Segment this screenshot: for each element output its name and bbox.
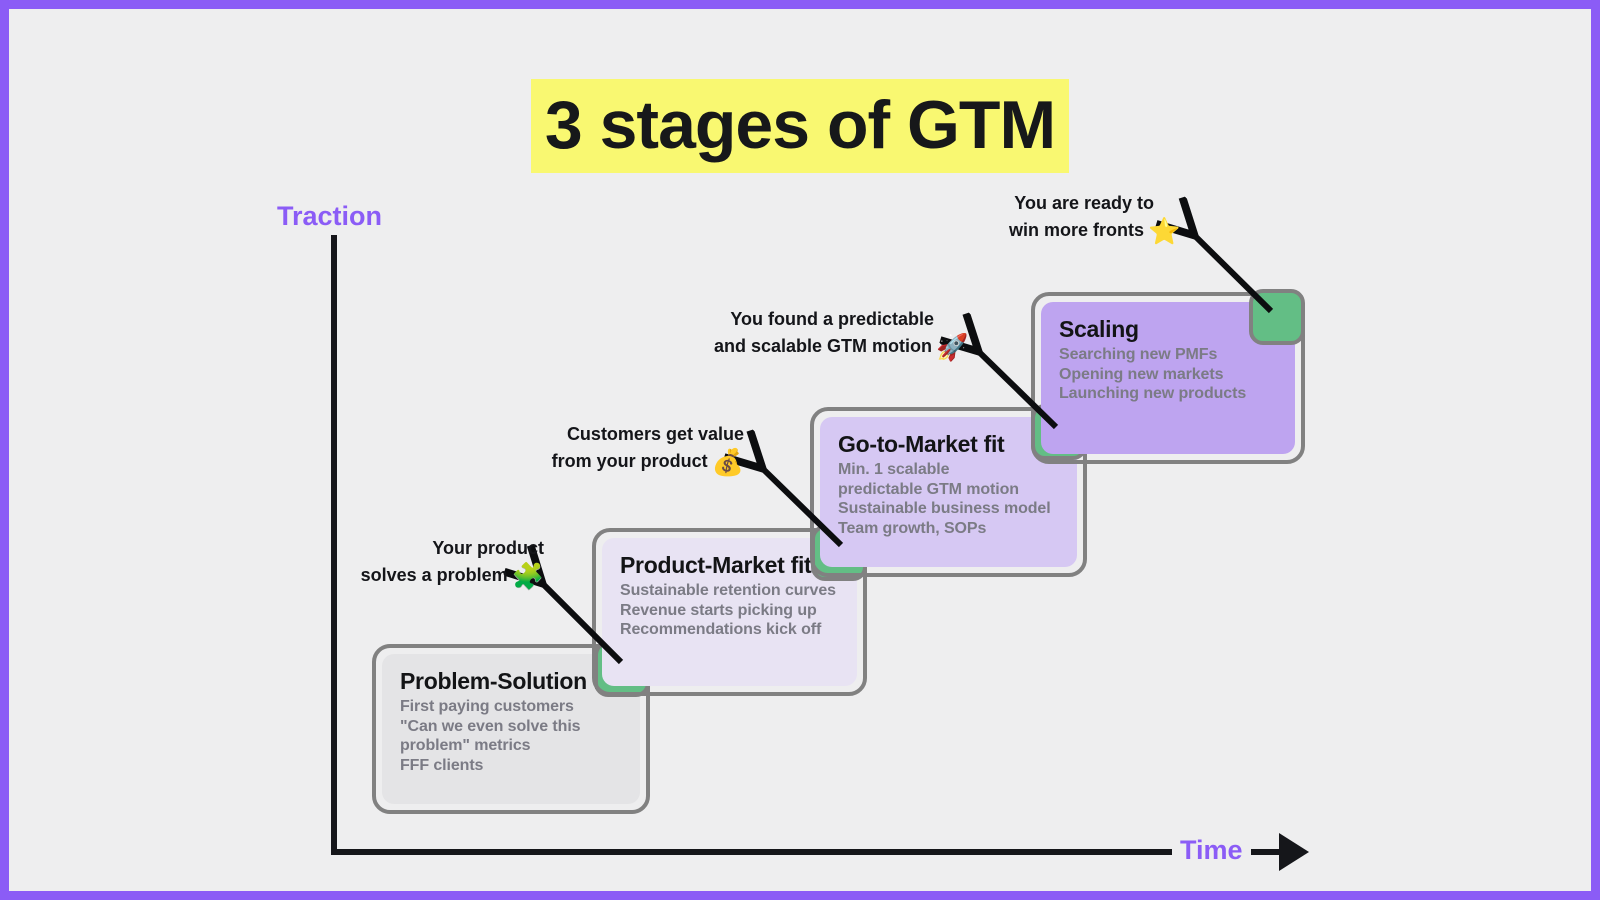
annotation-solves-a-problem: Your product solves a problem🧩: [359, 537, 544, 593]
annotation-line-1: You found a predictable: [730, 309, 934, 329]
annotation-line-2: solves a problem: [361, 565, 508, 585]
diagram-canvas: 3 stages of GTM Traction Time Problem-So…: [9, 9, 1591, 891]
annotation-predictable-gtm-motion: You found a predictable and scalable GTM…: [714, 308, 934, 364]
money-bag-emoji: 💰: [712, 447, 744, 477]
annotation-line-2: win more fronts: [1009, 220, 1144, 240]
puzzle-piece-emoji: 🧩: [512, 561, 544, 591]
arrow-to-product-market: [760, 466, 841, 545]
star-emoji: ⭐: [1148, 216, 1180, 246]
rocket-emoji: 🚀: [936, 332, 968, 362]
annotation-line-2: from your product: [552, 451, 708, 471]
annotation-line-2: and scalable GTM motion: [714, 336, 932, 356]
annotation-line-1: You are ready to: [1014, 193, 1154, 213]
annotation-customers-get-value: Customers get value from your product💰: [549, 423, 744, 479]
arrow-to-go-to-market: [976, 349, 1056, 427]
annotation-win-more-fronts: You are ready to win more fronts⭐: [1009, 192, 1154, 248]
arrow-to-scaling: [1192, 233, 1271, 311]
annotation-line-1: Your product: [432, 538, 544, 558]
arrow-group: [9, 9, 1591, 891]
arrow-to-problem-solution: [540, 581, 621, 662]
annotation-line-1: Customers get value: [567, 424, 744, 444]
